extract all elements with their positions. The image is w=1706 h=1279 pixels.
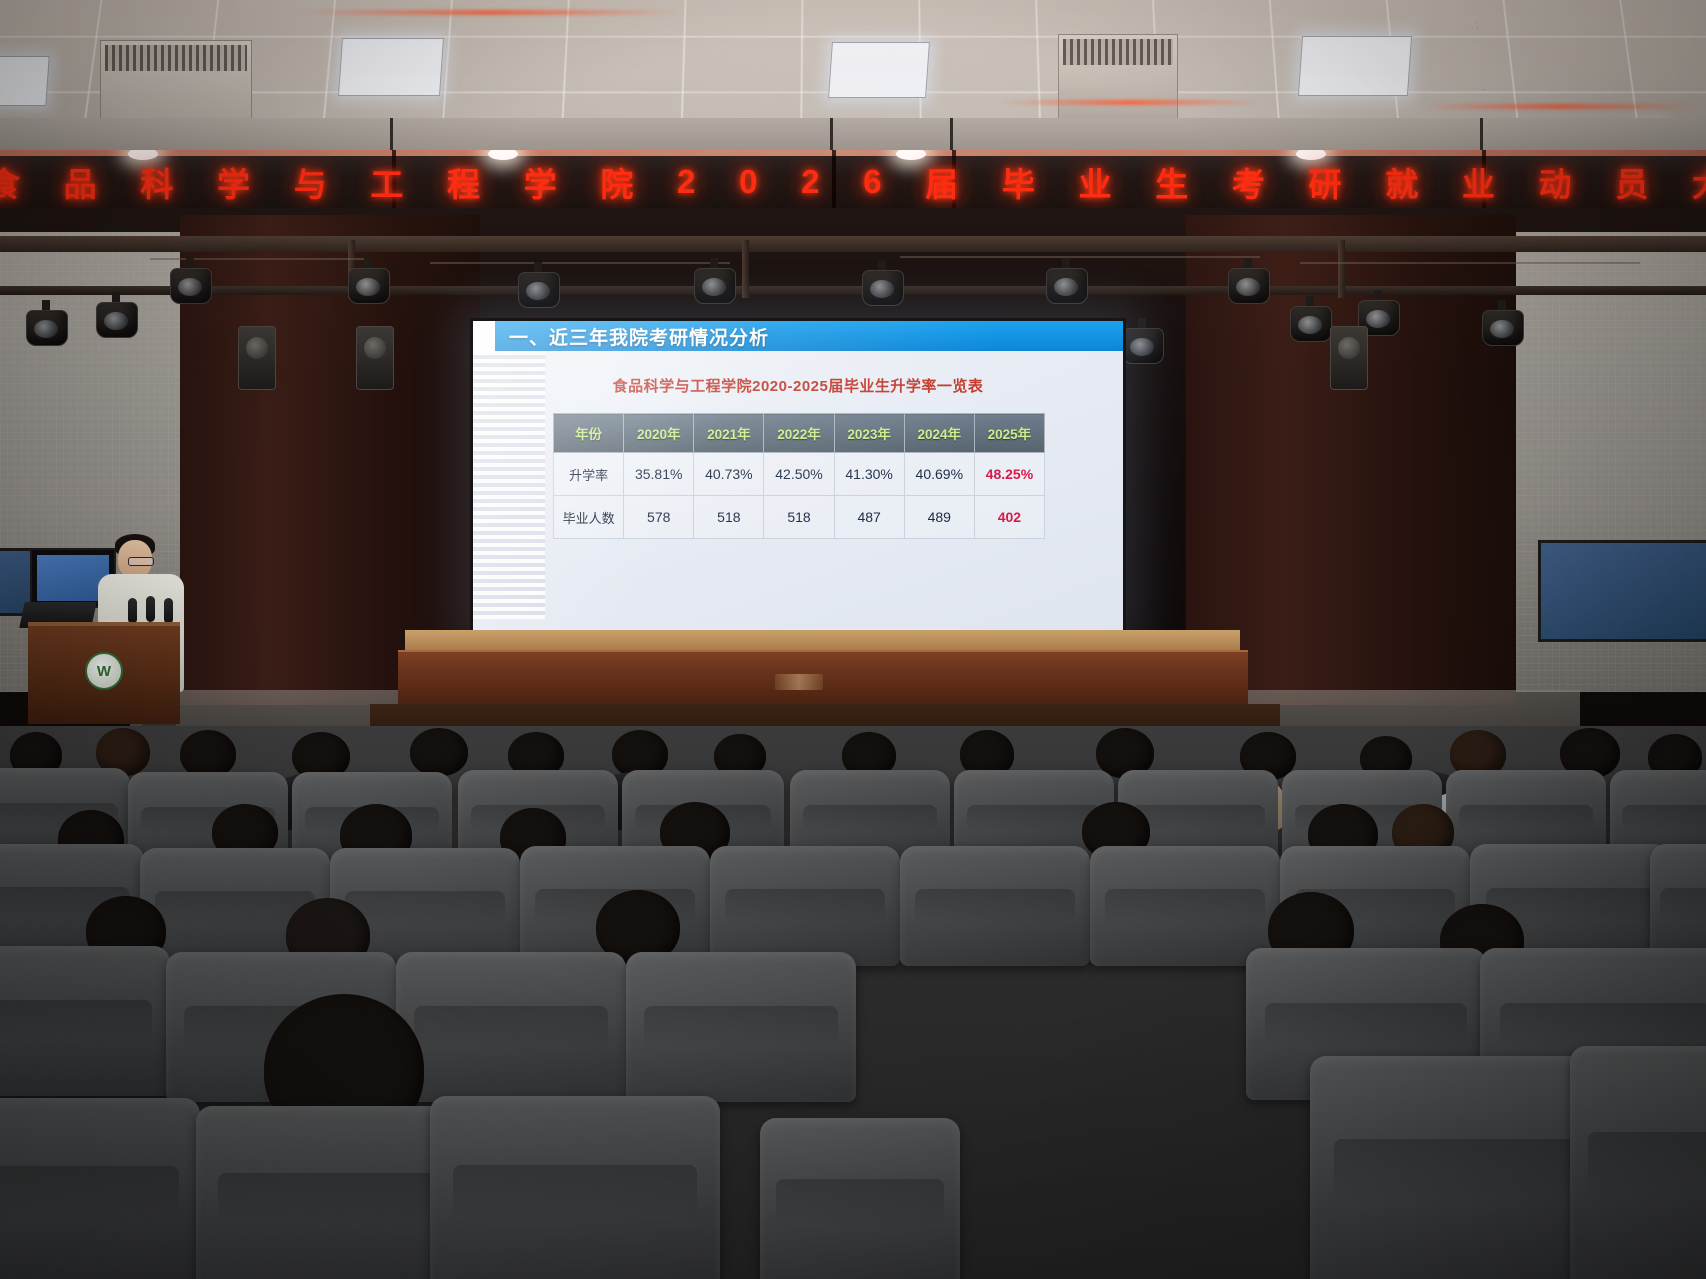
stage-front-emblem — [775, 674, 823, 690]
speaker-cone — [1338, 337, 1360, 359]
speaker-left-1 — [238, 326, 276, 390]
table-row: 毕业人数 578 518 518 487 489 402 — [554, 496, 1045, 539]
col-header-1: 2020年 — [624, 414, 694, 453]
projection-screen[interactable]: 一、近三年我院考研情况分析 食品科学与工程学院2020-2025届毕业生升学率一… — [470, 318, 1126, 636]
audience-area: 茶饮料 — [0, 726, 1706, 1279]
truss-cable-2 — [430, 262, 730, 264]
grads-2021: 518 — [694, 496, 764, 539]
led-banner-char: 届 — [924, 158, 959, 206]
lighting-truss-lower — [0, 286, 1706, 295]
truss-vertical-mid — [742, 240, 749, 298]
led-banner-char: 毕 — [1001, 158, 1036, 206]
stage-front-wood — [398, 650, 1248, 710]
presenter-glasses — [128, 557, 154, 566]
auditorium-seat[interactable] — [1310, 1056, 1610, 1279]
ceiling-panel-light-4 — [0, 56, 50, 106]
col-header-5: 2024年 — [904, 414, 974, 453]
slide-title-bar: 一、近三年我院考研情况分析 — [473, 321, 1123, 351]
led-banner-char: 2 — [800, 163, 820, 201]
ceiling-red-glow-2 — [1000, 100, 1260, 105]
speaker-cone — [246, 337, 268, 359]
lamp-lens — [1054, 278, 1078, 296]
auditorium-seat[interactable] — [626, 952, 856, 1102]
table-header-row: 年份 2020年 2021年 2022年 2023年 2024年 2025年 — [554, 414, 1045, 453]
ceiling-red-glow-1 — [300, 10, 680, 15]
auditorium-scene: 食品科学与工程学院2026届毕业生考研就业动员大 — [0, 0, 1706, 1279]
stage-light-1 — [26, 300, 66, 348]
speaker-cone — [364, 337, 386, 359]
led-banner-char: 业 — [1078, 158, 1113, 206]
led-banner-char: 科 — [139, 158, 174, 206]
ceiling-panel-light-1 — [338, 38, 444, 96]
led-banner-char: 动 — [1538, 158, 1573, 206]
led-banner-char: 生 — [1154, 158, 1189, 206]
col-header-2: 2021年 — [694, 414, 764, 453]
led-banner-char: 与 — [293, 158, 328, 206]
stage-light-4 — [348, 258, 388, 306]
rate-2020: 35.81% — [624, 453, 694, 496]
speaker-right-1 — [1330, 326, 1368, 390]
lamp-lens — [1366, 310, 1390, 328]
lamp-lens — [1490, 320, 1514, 338]
auditorium-seat[interactable] — [760, 1118, 960, 1279]
enrollment-rate-table: 年份 2020年 2021年 2022年 2023年 2024年 2025年 升… — [553, 413, 1045, 539]
slide-title-text: 一、近三年我院考研情况分析 — [509, 323, 769, 350]
led-banner-char: 研 — [1308, 158, 1343, 206]
microphone-1 — [128, 598, 137, 624]
grads-2023: 487 — [834, 496, 904, 539]
led-banner-char: 学 — [216, 158, 251, 206]
ceiling-panel-light-2 — [828, 42, 930, 98]
lamp-lens — [34, 320, 58, 338]
stage-light-6 — [694, 258, 734, 306]
rate-2023: 41.30% — [834, 453, 904, 496]
stage-light-2 — [96, 292, 136, 340]
lamp-lens — [356, 278, 380, 296]
stage-light-8 — [1046, 258, 1086, 306]
led-banner-char: 0 — [738, 163, 758, 201]
row-label-graduates: 毕业人数 — [554, 496, 624, 539]
rate-2024: 40.69% — [904, 453, 974, 496]
auditorium-seat[interactable] — [1570, 1046, 1706, 1279]
lamp-lens — [1130, 338, 1154, 356]
rate-2022: 42.50% — [764, 453, 834, 496]
lighting-truss-upper — [0, 236, 1706, 252]
speaker-podium: W — [28, 622, 180, 724]
grads-2020: 578 — [624, 496, 694, 539]
auditorium-seat[interactable] — [0, 946, 170, 1096]
slide-table-heading: 食品科学与工程学院2020-2025届毕业生升学率一览表 — [473, 375, 1123, 396]
stage-light-9 — [1228, 258, 1268, 306]
speaker-left-2 — [356, 326, 394, 390]
led-banner: 食品科学与工程学院2026届毕业生考研就业动员大 — [0, 150, 1706, 212]
led-banner-char: 品 — [63, 158, 98, 206]
rate-2025: 48.25% — [974, 453, 1044, 496]
stage-light-7 — [862, 260, 902, 308]
lamp-lens — [178, 278, 202, 296]
table-row: 升学率 35.81% 40.73% 42.50% 41.30% 40.69% 4… — [554, 453, 1045, 496]
led-banner-char: 院 — [599, 158, 634, 206]
presentation-slide: 一、近三年我院考研情况分析 食品科学与工程学院2020-2025届毕业生升学率一… — [473, 321, 1123, 633]
ceiling-red-glow-3 — [1420, 104, 1700, 109]
led-banner-char: 6 — [862, 163, 882, 201]
grads-2024: 489 — [904, 496, 974, 539]
truss-cable-4 — [1300, 262, 1640, 264]
col-header-3: 2022年 — [764, 414, 834, 453]
led-banner-char: 就 — [1384, 158, 1419, 206]
auditorium-seat[interactable] — [196, 1106, 466, 1279]
stage-light-3 — [170, 258, 210, 306]
auditorium-seat[interactable] — [0, 1098, 200, 1279]
lamp-lens — [526, 282, 550, 300]
lamp-lens — [870, 280, 894, 298]
col-header-4: 2023年 — [834, 414, 904, 453]
auditorium-seat[interactable] — [710, 846, 900, 966]
led-banner-char: 大 — [1691, 158, 1706, 206]
grads-2025: 402 — [974, 496, 1044, 539]
audience-head — [180, 730, 236, 778]
col-header-0: 年份 — [554, 414, 624, 453]
lamp-lens — [104, 312, 128, 330]
lamp-lens — [702, 278, 726, 296]
col-header-6: 2025年 — [974, 414, 1044, 453]
stage-light-15 — [1122, 318, 1162, 366]
duct-vent-left — [105, 45, 247, 71]
university-emblem-icon: W — [85, 652, 123, 690]
duct-vent-right — [1063, 39, 1173, 65]
auditorium-seat[interactable] — [430, 1096, 720, 1279]
led-banner-char: 考 — [1231, 158, 1266, 206]
microphone-3 — [164, 598, 173, 624]
led-banner-char: 食 — [0, 158, 21, 206]
lamp-lens — [1298, 316, 1322, 334]
ceiling-panel-light-3 — [1298, 36, 1412, 96]
row-label-rate: 升学率 — [554, 453, 624, 496]
led-banner-char: 程 — [446, 158, 481, 206]
rate-2021: 40.73% — [694, 453, 764, 496]
auditorium-seat[interactable] — [396, 952, 626, 1102]
stage-light-5 — [518, 262, 558, 310]
led-banner-text: 食品科学与工程学院2026届毕业生考研就业动员大 — [0, 158, 1706, 206]
auditorium-seat[interactable] — [900, 846, 1090, 966]
auditorium-seat[interactable] — [1090, 846, 1280, 966]
led-banner-char: 工 — [369, 158, 404, 206]
led-banner-char: 业 — [1461, 158, 1496, 206]
audience-head — [410, 728, 468, 776]
side-display-right — [1538, 540, 1706, 642]
led-banner-char: 学 — [523, 158, 558, 206]
stage-light-11 — [1482, 300, 1522, 348]
stage-apron-top — [405, 630, 1240, 652]
microphone-2 — [146, 596, 155, 622]
stage-light-12 — [1290, 296, 1330, 344]
led-banner-char: 2 — [676, 163, 696, 201]
lamp-lens — [1236, 278, 1260, 296]
grads-2022: 518 — [764, 496, 834, 539]
truss-vertical-right — [1338, 240, 1345, 298]
led-banner-char: 员 — [1614, 158, 1649, 206]
slide-title-tab — [473, 321, 495, 351]
